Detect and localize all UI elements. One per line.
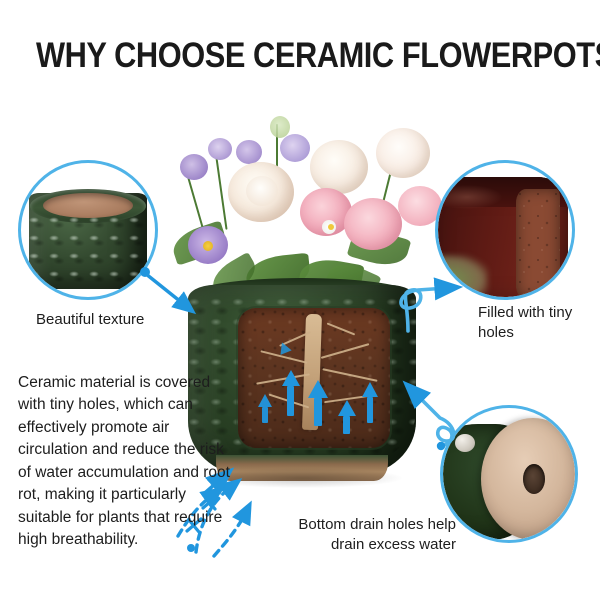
body-description-text: Ceramic material is covered with tiny ho… (18, 372, 230, 552)
drain-hole-icon (523, 464, 545, 494)
pot-drop-shadow (202, 468, 402, 488)
infographic-canvas: WHY CHOOSE CERAMIC FLOWERPOTS (0, 0, 600, 600)
caption-bottom-drain-holes: Bottom drain holes help drain excess wat… (296, 515, 456, 555)
callout-beautiful-texture (18, 160, 158, 300)
caption-beautiful-texture: Beautiful texture (36, 310, 236, 330)
page-title: WHY CHOOSE CERAMIC FLOWERPOTS (36, 36, 564, 76)
caption-filled-with-tiny-holes: Filled with tiny holes (478, 303, 596, 343)
callout-filled-with-tiny-holes (435, 160, 575, 300)
soil-cutaway-window (238, 308, 390, 448)
callout-bottom-drain-hole (440, 405, 578, 543)
